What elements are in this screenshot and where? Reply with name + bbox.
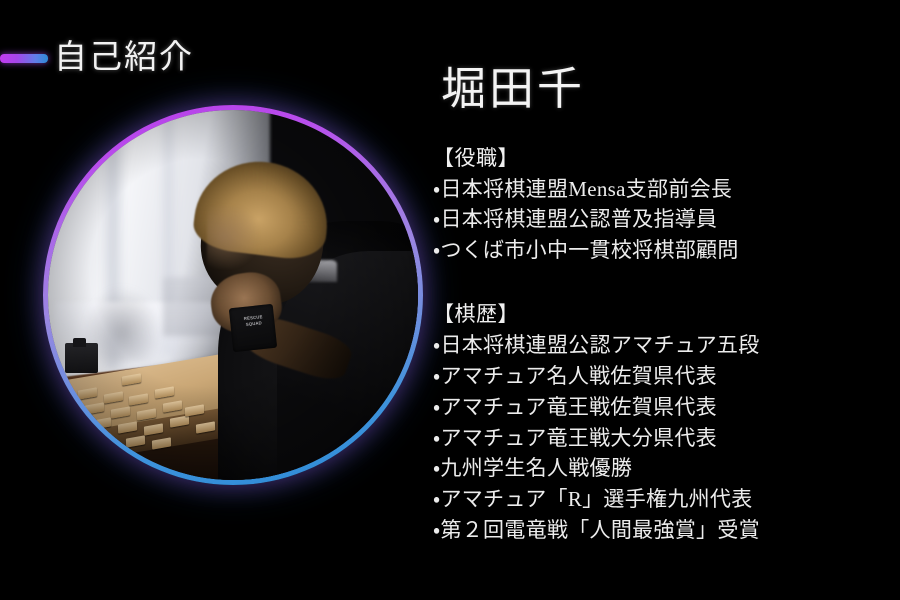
section-shogi-history: 【棋歴】 ・日本将棋連盟公認アマチュア五段 ・アマチュア名人戦佐賀県代表 ・アマ… <box>433 300 883 546</box>
camera-object <box>65 343 98 373</box>
person-face <box>207 206 259 269</box>
slide-heading: 自己紹介 <box>0 40 194 76</box>
shogi-history-list: ・日本将棋連盟公認アマチュア五段 ・アマチュア名人戦佐賀県代表 ・アマチュア竜王… <box>433 330 883 546</box>
list-item: ・アマチュア名人戦佐賀県代表 <box>433 361 883 392</box>
list-item: ・日本将棋連盟公認アマチュア五段 <box>433 330 883 361</box>
list-item: ・日本将棋連盟Mensa支部前会長 <box>433 174 883 205</box>
roles-list: ・日本将棋連盟Mensa支部前会長 ・日本将棋連盟公認普及指導員 ・つくば市小中… <box>433 174 883 267</box>
section-roles: 【役職】 ・日本将棋連盟Mensa支部前会長 ・日本将棋連盟公認普及指導員 ・つ… <box>433 144 883 266</box>
list-item: ・アマチュア竜王戦大分県代表 <box>433 423 883 454</box>
list-item: ・つくば市小中一貫校将棋部顧問 <box>433 235 883 266</box>
slide-root: 自己紹介 <box>0 0 900 600</box>
camera-lens <box>73 338 86 348</box>
profile-content: 堀田千 【役職】 ・日本将棋連盟Mensa支部前会長 ・日本将棋連盟公認普及指導… <box>433 64 883 546</box>
portrait-photo: RESCUE SQUAD <box>43 105 423 485</box>
list-item: ・日本将棋連盟公認普及指導員 <box>433 204 883 235</box>
section-title: 【役職】 <box>433 144 883 174</box>
portrait-image: RESCUE SQUAD <box>48 110 418 480</box>
list-item: ・アマチュア「R」選手権九州代表 <box>433 484 883 515</box>
wristband <box>229 304 278 353</box>
gradient-accent-bar-icon <box>0 54 48 63</box>
person-name: 堀田千 <box>441 64 883 116</box>
list-item: ・アマチュア竜王戦佐賀県代表 <box>433 392 883 423</box>
list-item: ・九州学生名人戦優勝 <box>433 453 883 484</box>
list-item: ・第２回電竜戦「人間最強賞」受賞 <box>433 515 883 546</box>
portrait-scene: RESCUE SQUAD <box>48 110 418 480</box>
page-title: 自己紹介 <box>54 40 194 76</box>
section-title: 【棋歴】 <box>433 300 883 330</box>
